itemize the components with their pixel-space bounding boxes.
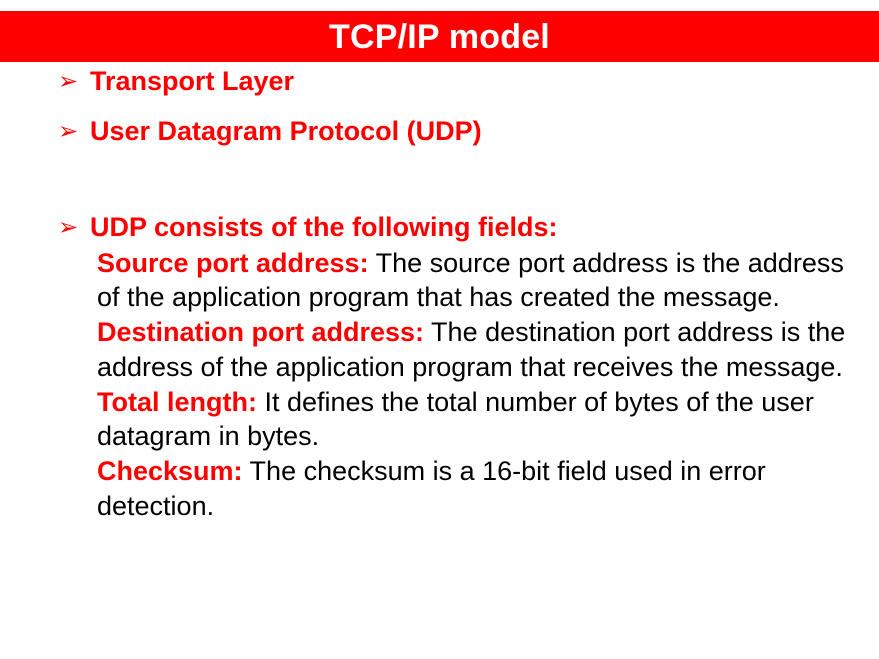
page-title: TCP/IP model	[329, 20, 550, 54]
field-term: Checksum:	[97, 456, 243, 486]
field-list: Source port address: The source port add…	[97, 246, 858, 524]
field-term: Destination port address:	[97, 317, 424, 347]
bullet-label: UDP consists of the following fields:	[90, 214, 558, 241]
paragraph-spacer	[58, 167, 858, 214]
bullet-label: User Datagram Protocol (UDP)	[90, 118, 482, 145]
field-destination-port-address: Destination port address: The destinatio…	[97, 315, 858, 384]
slide-title-banner: TCP/IP model	[0, 11, 879, 62]
field-term: Total length:	[97, 387, 257, 417]
bullet-item-udp: ➢ User Datagram Protocol (UDP)	[58, 118, 858, 146]
arrow-bullet-icon: ➢	[58, 214, 90, 242]
slide: TCP/IP model ➢ Transport Layer ➢ User Da…	[0, 0, 879, 659]
field-total-length: Total length: It defines the total numbe…	[97, 385, 858, 454]
arrow-bullet-icon: ➢	[58, 68, 90, 96]
field-checksum: Checksum: The checksum is a 16-bit field…	[97, 454, 858, 523]
field-term: Source port address:	[97, 248, 369, 278]
arrow-bullet-icon: ➢	[58, 118, 90, 146]
bullet-item-udp-fields: ➢ UDP consists of the following fields:	[58, 214, 858, 242]
bullet-item-transport-layer: ➢ Transport Layer	[58, 68, 858, 96]
slide-body: ➢ Transport Layer ➢ User Datagram Protoc…	[58, 68, 858, 523]
bullet-label: Transport Layer	[90, 68, 294, 95]
field-source-port-address: Source port address: The source port add…	[97, 246, 858, 315]
